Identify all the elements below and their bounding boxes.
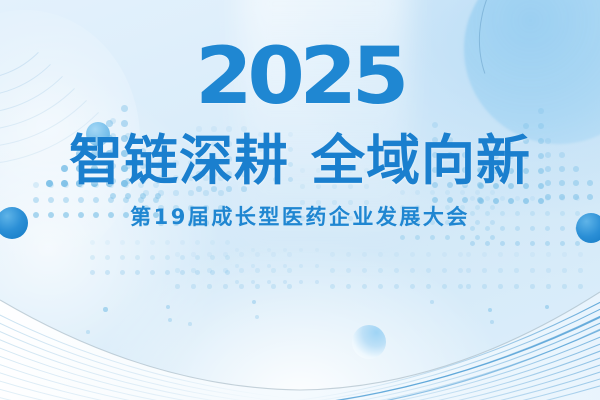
page-subtitle: 第19届成长型医药企业发展大会	[130, 207, 470, 228]
headline-part-1: 智链深耕	[69, 129, 289, 192]
headline-part-2: 全域向新	[311, 129, 531, 192]
year-label: 2025	[196, 38, 405, 116]
conference-banner: 2025 智链深耕全域向新 第19届成长型医药企业发展大会	[0, 0, 600, 400]
page-title: 智链深耕全域向新	[69, 134, 531, 188]
banner-content: 2025 智链深耕全域向新 第19届成长型医药企业发展大会	[0, 0, 600, 400]
